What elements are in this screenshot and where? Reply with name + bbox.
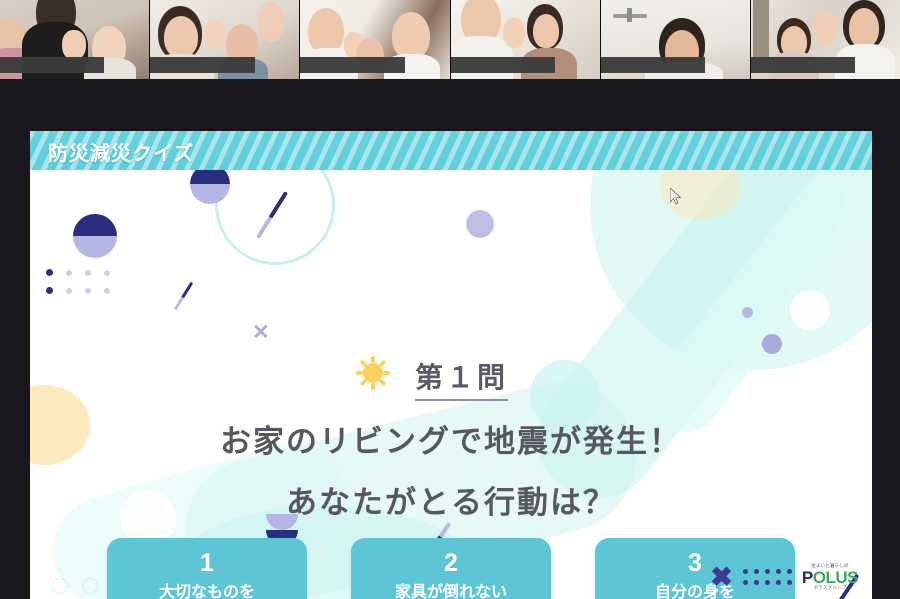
dot-grid-decor bbox=[743, 569, 792, 585]
logo-wordmark: POLUS bbox=[802, 569, 858, 586]
person-figure bbox=[164, 16, 198, 58]
slide-footer: ✖ 住まいと暮らしの POLUS ポラスグループ bbox=[710, 559, 858, 595]
decor-halfcircle bbox=[190, 184, 230, 204]
participant-tile[interactable] bbox=[300, 0, 450, 79]
decor-grey-dot bbox=[66, 288, 72, 294]
person-figure bbox=[392, 12, 430, 60]
decor-stick bbox=[174, 282, 194, 311]
hand-gesture bbox=[62, 30, 86, 60]
participant-video-strip bbox=[0, 0, 900, 79]
slide-banner: 防災減災クイズ bbox=[30, 131, 872, 170]
decor-ring bbox=[215, 170, 335, 265]
answer-2-number: 2 bbox=[351, 550, 551, 578]
shared-slide[interactable]: 防災減災クイズ bbox=[30, 131, 872, 599]
hand-gesture bbox=[258, 2, 284, 42]
question-line-2: あなたがとる行動は？ bbox=[30, 477, 872, 522]
logo-letters-olus: OLUS bbox=[813, 568, 858, 587]
participant-name-bar bbox=[751, 57, 855, 73]
decor-lavender-dot bbox=[762, 334, 782, 354]
decor-pill bbox=[636, 170, 872, 447]
question-line-1: お家のリビングで地震が発生！ bbox=[30, 416, 872, 461]
decor-halfcircle bbox=[73, 214, 117, 236]
participant-name-bar bbox=[300, 57, 404, 73]
hand-gesture bbox=[204, 20, 226, 48]
answer-2-line1: 家具が倒れない bbox=[351, 581, 551, 599]
answer-1-line1: 大切なものを bbox=[107, 581, 307, 599]
decor-white-circle bbox=[790, 290, 830, 330]
zoom-meeting-window: 防災減災クイズ bbox=[0, 0, 900, 599]
participant-tile[interactable] bbox=[601, 0, 751, 79]
hand-gesture bbox=[813, 10, 837, 44]
mouse-cursor bbox=[670, 188, 682, 206]
decor-halfcircle bbox=[73, 236, 117, 258]
slide-banner-title: 防災減災クイズ bbox=[48, 137, 194, 166]
decor-stick bbox=[256, 191, 288, 239]
decor-grey-dot bbox=[85, 270, 91, 276]
decor-grey-dot bbox=[66, 270, 72, 276]
participant-name-bar bbox=[601, 57, 705, 73]
participant-name-bar bbox=[451, 57, 555, 73]
participant-tile[interactable] bbox=[451, 0, 601, 79]
participant-tile[interactable] bbox=[751, 0, 900, 79]
person-figure bbox=[849, 8, 879, 48]
decor-grey-dot bbox=[104, 270, 110, 276]
decor-grey-dot bbox=[85, 288, 91, 294]
participant-name-bar bbox=[0, 57, 104, 73]
question-number: 第１問 bbox=[415, 356, 508, 401]
decor-x-icon: ✕ bbox=[252, 320, 270, 345]
decor-lavender-dot bbox=[466, 210, 494, 238]
person-figure bbox=[533, 14, 559, 48]
polus-logo: 住まいと暮らしの POLUS ポラスグループ bbox=[802, 564, 858, 590]
decor-pill bbox=[513, 170, 866, 522]
answer-option-1[interactable]: 1 大切なものを 取りに行く bbox=[107, 538, 307, 599]
decor-navy-dot bbox=[46, 287, 53, 294]
hand-gesture bbox=[503, 18, 525, 48]
participant-tile[interactable] bbox=[0, 0, 150, 79]
answer-1-number: 1 bbox=[107, 550, 307, 578]
participant-tile[interactable] bbox=[150, 0, 300, 79]
decor-navy-dot bbox=[46, 269, 53, 276]
logo-letter-p: P bbox=[802, 568, 813, 587]
answer-option-2[interactable]: 2 家具が倒れない ように支える bbox=[351, 538, 551, 599]
decor-mint-circle bbox=[590, 170, 872, 370]
sun-icon bbox=[356, 356, 390, 390]
participant-name-bar bbox=[150, 57, 254, 73]
decor-lavender-dot bbox=[742, 307, 753, 318]
decor-grey-dot bbox=[104, 288, 110, 294]
decor-halfcircle bbox=[190, 170, 230, 184]
x-mark-icon: ✖ bbox=[710, 564, 733, 591]
